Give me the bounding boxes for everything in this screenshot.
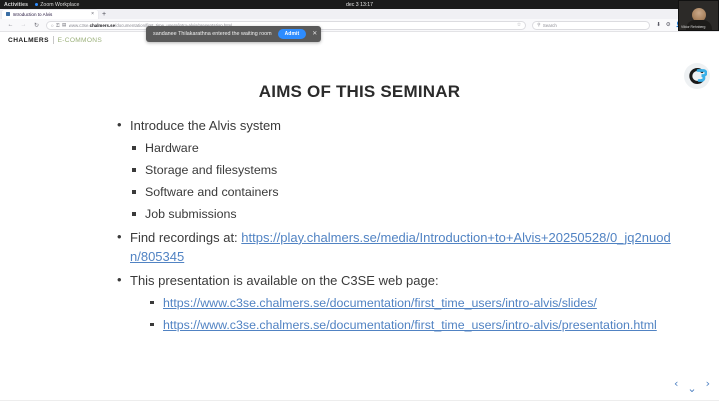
new-tab-button[interactable]: + bbox=[102, 10, 106, 19]
slide-navigation: ‹ › ⌄ bbox=[674, 376, 710, 396]
bullet-list-level1: Introduce the Alvis system Hardware Stor… bbox=[116, 117, 676, 335]
bullet-text: Storage and filesystems bbox=[145, 163, 277, 177]
clock[interactable]: dec 3 13:17 bbox=[0, 2, 719, 8]
bullet-presentation-link-item: https://www.c3se.chalmers.se/documentati… bbox=[148, 317, 676, 335]
bullet-list-level2: Hardware Storage and filesystems Softwar… bbox=[130, 140, 676, 224]
forward-icon[interactable]: → bbox=[20, 22, 27, 29]
tab-title: Introduction to Alvis bbox=[13, 12, 89, 17]
bullet-lead-text: Find recordings at: bbox=[130, 230, 241, 245]
bookmark-star-icon[interactable]: ☆ bbox=[517, 22, 521, 28]
browser-tabstrip: Introduction to Alvis × + ⌄ bbox=[0, 9, 719, 19]
shield-icon[interactable]: ○ bbox=[51, 23, 54, 28]
waiting-room-notification: sandanee Thilakarathna entered the waiti… bbox=[146, 26, 321, 42]
brand-divider bbox=[53, 36, 54, 44]
bullet-text: This presentation is available on the C3… bbox=[130, 273, 439, 288]
url-domain: chalmers.se bbox=[90, 23, 115, 28]
bullet-slides-link-item: https://www.c3se.chalmers.se/documentati… bbox=[148, 295, 676, 313]
brand-e-commons: E-COMMONS bbox=[58, 37, 102, 44]
bullet-job-submissions: Job submissions bbox=[130, 206, 676, 224]
bullet-text: Software and containers bbox=[145, 185, 279, 199]
bullet-introduce-alvis: Introduce the Alvis system Hardware Stor… bbox=[116, 117, 676, 224]
dismiss-notification-icon[interactable]: ✕ bbox=[312, 31, 317, 37]
reload-icon[interactable]: ↻ bbox=[33, 22, 40, 29]
bullet-software: Software and containers bbox=[130, 184, 676, 202]
bullet-hardware: Hardware bbox=[130, 140, 676, 158]
tab-close-icon[interactable]: × bbox=[91, 11, 94, 17]
search-icon: ⚲ bbox=[537, 22, 540, 28]
browser-tab-introduction-to-alvis[interactable]: Introduction to Alvis × bbox=[2, 10, 98, 19]
waiting-room-message: sandanee Thilakarathna entered the waiti… bbox=[153, 31, 272, 37]
zoom-app-indicator[interactable]: Zoom Workplace bbox=[35, 2, 79, 8]
browser-navbar: ← → ↻ ○ ⚿ ▤ www.c3se.chalmers.se/documen… bbox=[0, 19, 719, 32]
prev-slide-icon[interactable]: ‹ bbox=[674, 378, 678, 389]
back-icon[interactable]: ← bbox=[7, 22, 14, 29]
navigation-buttons: ← → ↻ bbox=[0, 22, 40, 29]
slides-link[interactable]: https://www.c3se.chalmers.se/documentati… bbox=[163, 296, 597, 310]
bullet-text: Introduce the Alvis system bbox=[130, 118, 281, 133]
bullet-presentation-available: This presentation is available on the C3… bbox=[116, 272, 676, 335]
zoom-icon bbox=[35, 3, 38, 6]
reader-mode-icon[interactable]: ▤ bbox=[62, 22, 66, 28]
bullet-find-recordings: Find recordings at: https://play.chalmer… bbox=[116, 229, 676, 267]
search-input[interactable]: Search bbox=[543, 23, 557, 28]
activities-button[interactable]: Activities bbox=[4, 2, 28, 8]
brand-chalmers: CHALMERS bbox=[8, 37, 49, 44]
video-thumbnail[interactable]: Viktor Rehnberg bbox=[678, 0, 719, 31]
bullet-list-links: https://www.c3se.chalmers.se/documentati… bbox=[148, 295, 676, 335]
next-slide-icon[interactable]: › bbox=[706, 378, 710, 389]
extensions-icon[interactable]: ⚙ bbox=[666, 22, 671, 28]
page-bottom-strip bbox=[0, 400, 719, 404]
zoom-app-label: Zoom Workplace bbox=[40, 2, 79, 8]
admit-button[interactable]: Admit bbox=[278, 29, 307, 40]
page-title: AIMS OF THIS SEMINAR bbox=[0, 82, 719, 102]
bullet-storage: Storage and filesystems bbox=[130, 162, 676, 180]
search-bar[interactable]: ⚲ Search bbox=[532, 21, 650, 30]
lock-icon[interactable]: ⚿ bbox=[56, 23, 59, 28]
page-content: CHALMERS E-COMMONS AIMS OF THIS SEMINAR … bbox=[0, 32, 719, 404]
gnome-top-bar-left: Activities Zoom Workplace bbox=[0, 2, 79, 8]
gnome-top-bar: Activities Zoom Workplace dec 3 13:17 – … bbox=[0, 0, 719, 9]
participant-name: Viktor Rehnberg bbox=[681, 25, 705, 29]
bullet-text: Job submissions bbox=[145, 207, 237, 221]
presentation-link[interactable]: https://www.c3se.chalmers.se/documentati… bbox=[163, 318, 657, 332]
site-brand[interactable]: CHALMERS E-COMMONS bbox=[8, 36, 102, 44]
screen: Activities Zoom Workplace dec 3 13:17 – … bbox=[0, 0, 719, 404]
url-prefix: www.c3se. bbox=[69, 23, 90, 28]
down-slide-icon[interactable]: ⌄ bbox=[687, 383, 696, 394]
downloads-icon[interactable]: ⬇ bbox=[656, 22, 661, 28]
slide-body: Introduce the Alvis system Hardware Stor… bbox=[116, 117, 676, 340]
tab-favicon-icon bbox=[6, 12, 10, 16]
bullet-text: Hardware bbox=[145, 141, 199, 155]
